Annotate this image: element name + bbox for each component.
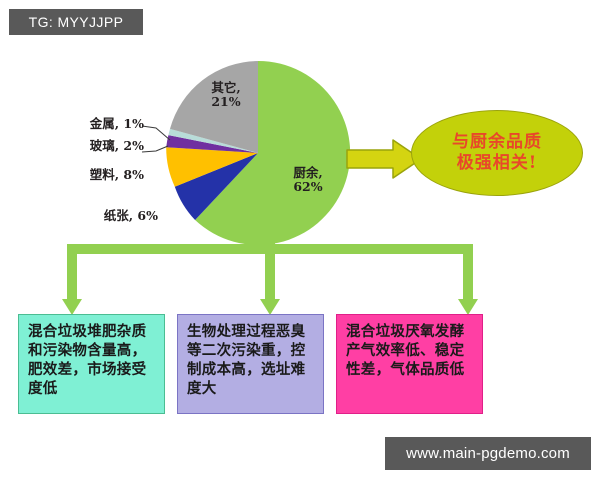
result-box-compost: 混合垃圾堆肥杂质和污染物含量高，肥效差，市场接受度低: [18, 314, 165, 414]
pie-label-metal: 金属, 1%: [62, 117, 144, 131]
callout-line-2: 极强相关!: [457, 153, 537, 174]
watermark-url: www.main-pgdemo.com: [385, 437, 591, 470]
infographic-canvas: TG: MYYJJPP 其它, 21% 厨余, 62% 金属, 1% 玻璃, 2…: [0, 0, 600, 480]
result-box-bio-treatment: 生物处理过程恶臭等二次污染重，控制成本高，选址难度大: [177, 314, 324, 414]
pie-chart-svg: [166, 61, 350, 245]
pie-label-glass: 玻璃, 2%: [56, 139, 144, 153]
pie-chart: [166, 61, 350, 245]
result-box-anaerobic: 混合垃圾厌氧发酵产气效率低、稳定性差，气体品质低: [336, 314, 483, 414]
pie-label-other: 其它, 21%: [196, 81, 256, 110]
pie-label-kitchen-waste: 厨余, 62%: [277, 166, 339, 195]
callout-bubble: 与厨余品质 极强相关!: [411, 110, 583, 196]
pie-label-plastic: 塑料, 8%: [56, 168, 144, 182]
callout-line-1: 与厨余品质: [452, 132, 542, 153]
tag-badge: TG: MYYJJPP: [9, 9, 143, 35]
pie-label-paper: 纸张, 6%: [70, 209, 158, 223]
bracket-connector: [60, 240, 480, 320]
